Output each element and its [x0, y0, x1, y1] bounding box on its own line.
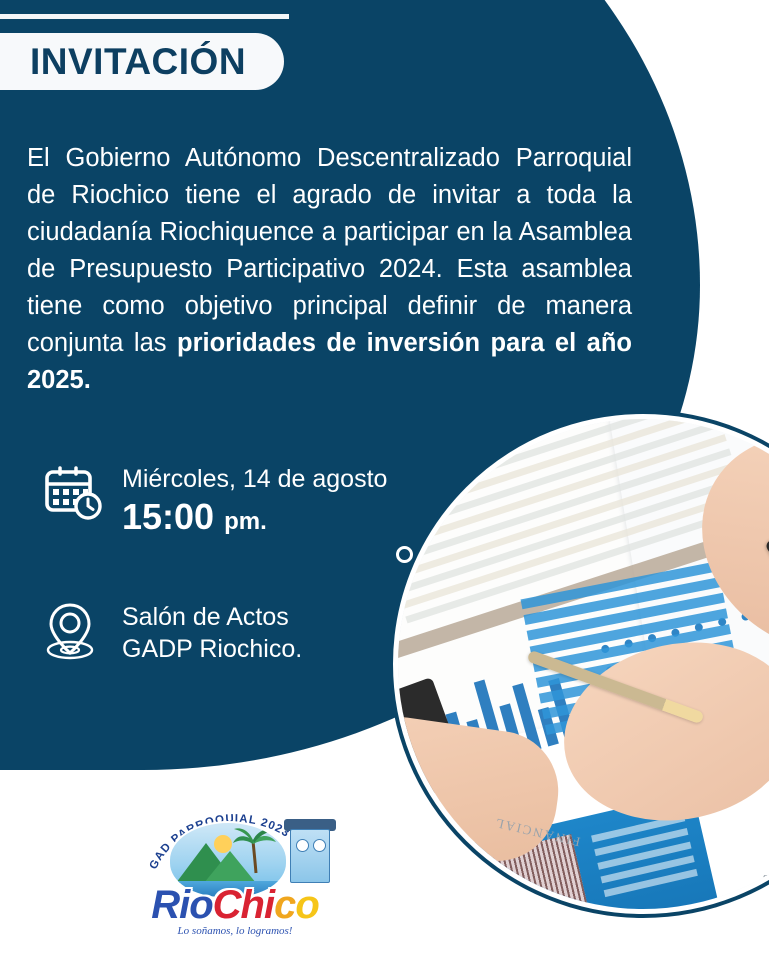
event-date-row: Miércoles, 14 de agosto 15:00 pm. [44, 462, 387, 543]
event-place-line1: Salón de Actos [122, 601, 302, 633]
palm-tree-icon [228, 825, 284, 875]
event-time: 15:00 [122, 496, 214, 537]
event-photo: FINANCIAL Loan Calculator ompetitors [393, 414, 769, 914]
event-time-suffix: pm. [224, 508, 267, 535]
riochico-logo: GAD PARROQUIAL 2023 - 2027 RioChico Lo s… [140, 805, 330, 950]
clock-tower-icon [282, 811, 336, 883]
logo-word-h: h [241, 883, 264, 927]
invitation-title-pill: INVITACIÓN [0, 33, 284, 90]
event-place-row: Salón de Actos GADP Riochico. [44, 599, 387, 668]
invitation-paragraph: El Gobierno Autónomo Descentralizado Par… [27, 140, 632, 399]
header-rule [0, 14, 289, 19]
logo-tagline: Lo soñamos, lo logramos! [140, 925, 330, 937]
event-place-text: Salón de Actos GADP Riochico. [122, 599, 302, 665]
logo-word-o: o [295, 883, 318, 927]
photo-label-competitors: ompetitors [763, 871, 769, 887]
page-title: INVITACIÓN [30, 41, 246, 83]
invitation-paragraph-text: El Gobierno Autónomo Descentralizado Par… [27, 144, 632, 357]
photo-label-loan: Loan Calculator [493, 912, 605, 914]
logo-word-i: i [264, 883, 274, 927]
calendar-clock-icon [44, 462, 122, 527]
logo-word-rio: Rio [151, 883, 212, 927]
event-details: Miércoles, 14 de agosto 15:00 pm. Salón … [44, 462, 387, 668]
logo-word-c2: c [274, 883, 295, 927]
event-date-day: Miércoles, 14 de agosto [122, 464, 387, 494]
location-pin-icon [44, 599, 122, 668]
event-place-line2: GADP Riochico. [122, 633, 302, 665]
photo-scene: FINANCIAL Loan Calculator ompetitors [398, 419, 769, 909]
event-date-text: Miércoles, 14 de agosto 15:00 pm. [122, 462, 387, 543]
logo-word-c: C [213, 883, 241, 927]
logo-wordmark: RioChico [140, 883, 330, 927]
panel-chips [591, 814, 699, 904]
ring-accent-decor [396, 546, 413, 563]
